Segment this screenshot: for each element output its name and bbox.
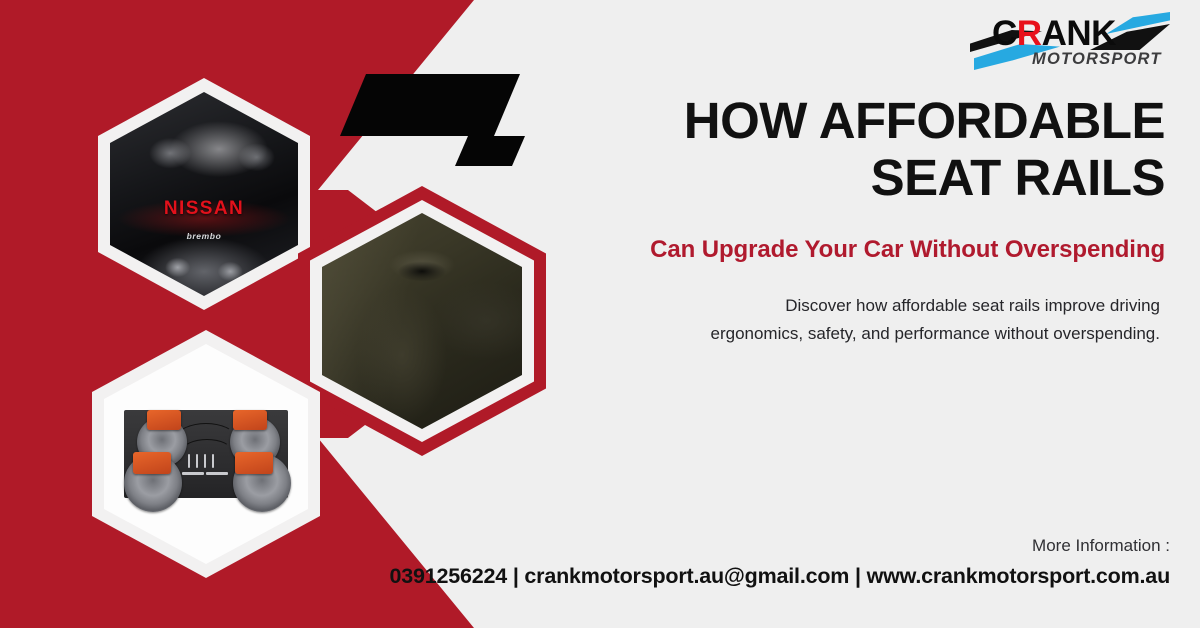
caliper-rear-left — [133, 452, 171, 474]
brand-logo[interactable]: CRANK MOTORSPORT — [970, 10, 1170, 76]
subheadline: Can Upgrade Your Car Without Overspendin… — [560, 236, 1165, 264]
caliper-front-right — [233, 410, 267, 430]
hardware-pin-2 — [196, 454, 198, 468]
page-title: HOW AFFORDABLE SEAT RAILS — [600, 92, 1165, 206]
nissan-logo-text: NISSAN — [110, 198, 298, 220]
banner-canvas: NISSAN brembo CRANK MOTORSPORT HO — [0, 0, 1200, 628]
logo-letter-c: C — [992, 14, 1017, 53]
contact-details: 0391256224 | crankmotorsport.au@gmail.co… — [389, 564, 1170, 589]
black-parallelogram-small — [455, 136, 525, 166]
logo-wordmark: CRANK — [992, 16, 1116, 51]
headline-line-2: SEAT RAILS — [600, 149, 1165, 206]
more-information-label: More Information : — [1032, 536, 1170, 556]
hardware-pin-1 — [188, 454, 190, 468]
caliper-front-left — [147, 410, 181, 430]
hardware-bolt-row-right — [206, 472, 228, 475]
hardware-bolt-row-left — [182, 472, 204, 475]
hardware-pin-4 — [212, 454, 214, 468]
logo-subtitle: MOTORSPORT — [1032, 50, 1162, 69]
black-parallelogram-large — [340, 74, 520, 136]
body-copy: Discover how affordable seat rails impro… — [700, 292, 1160, 347]
logo-letters-ank: ANK — [1042, 14, 1116, 53]
logo-letter-r: R — [1017, 14, 1042, 53]
headline-line-1: HOW AFFORDABLE — [600, 92, 1165, 149]
hardware-pin-3 — [204, 454, 206, 468]
brembo-logo-text: brembo — [110, 231, 298, 241]
caliper-rear-right — [235, 452, 273, 474]
